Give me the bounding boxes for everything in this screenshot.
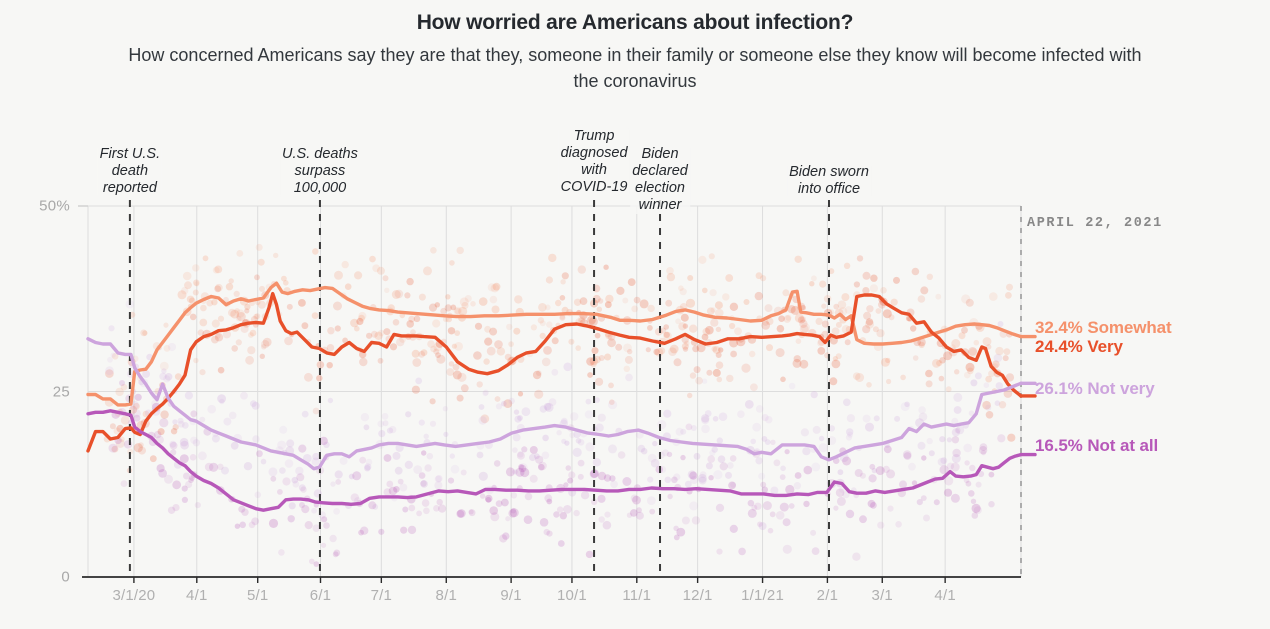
event-annotation: Biden declared election winner	[630, 146, 690, 214]
date-stamp: APRIL 22, 2021	[1027, 216, 1163, 231]
event-annotation: Trump diagnosed with COVID-19	[559, 128, 630, 196]
x-axis-tick: 8/1	[436, 587, 457, 604]
x-axis-tick: 3/1/20	[112, 587, 155, 604]
event-annotation: U.S. deaths surpass 100,000	[280, 146, 360, 197]
chart-labels-layer: 50%2503/1/204/15/16/17/18/19/110/111/112…	[0, 0, 1270, 629]
x-axis-tick: 1/1/21	[741, 587, 784, 604]
x-axis-tick: 4/1	[186, 587, 207, 604]
series-label-very: 24.4% Very	[1035, 337, 1123, 357]
x-axis-tick: 2/1	[817, 587, 838, 604]
y-axis-tick: 0	[10, 569, 70, 586]
y-axis-tick: 50%	[10, 198, 70, 215]
x-axis-tick: 11/1	[622, 587, 651, 604]
series-label-somewhat: 32.4% Somewhat	[1035, 318, 1172, 338]
event-annotation: First U.S. death reported	[98, 146, 162, 197]
x-axis-tick: 3/1	[872, 587, 893, 604]
x-axis-tick: 7/1	[371, 587, 392, 604]
x-axis-tick: 9/1	[500, 587, 521, 604]
x-axis-tick: 4/1	[934, 587, 955, 604]
event-annotation: Biden sworn into office	[787, 164, 871, 198]
series-label-not_very: 26.1% Not very	[1035, 379, 1155, 399]
x-axis-tick: 12/1	[683, 587, 713, 604]
y-axis-tick: 25	[10, 383, 70, 400]
series-label-not_at_all: 16.5% Not at all	[1035, 436, 1158, 456]
x-axis-tick: 6/1	[310, 587, 331, 604]
x-axis-tick: 10/1	[557, 587, 587, 604]
x-axis-tick: 5/1	[247, 587, 268, 604]
